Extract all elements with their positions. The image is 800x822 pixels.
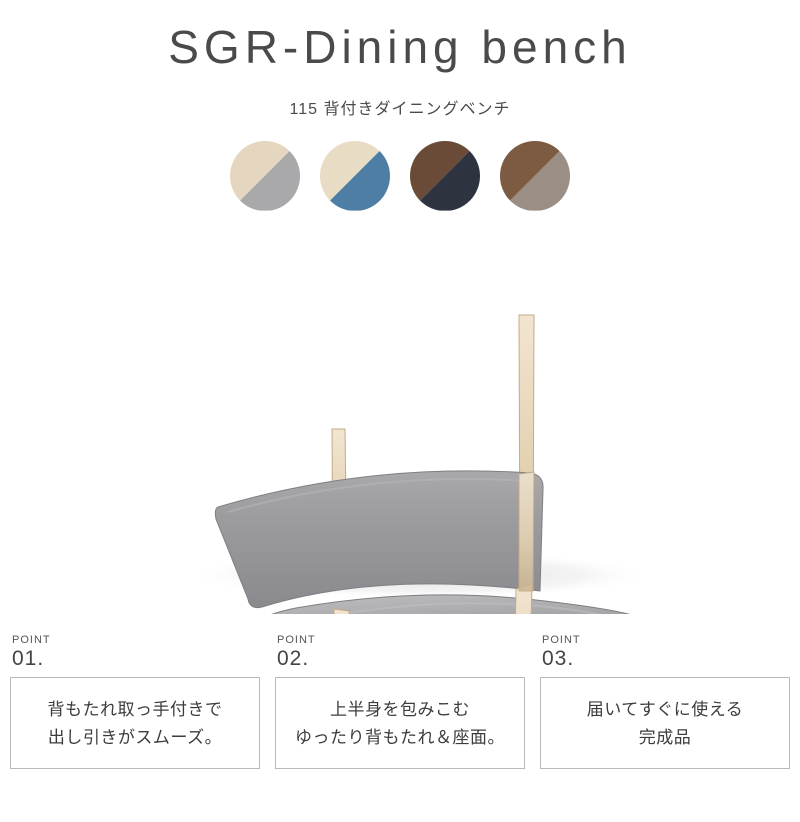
point-text-line: 背もたれ取っ手付きで [48, 699, 223, 720]
point-text-line: ゆったり背もたれ＆座面。 [295, 727, 505, 748]
point-text-line: 出し引きがスムーズ。 [48, 727, 222, 748]
color-swatch-natural-gray[interactable] [230, 141, 300, 211]
point-number: 01. [12, 647, 260, 671]
bench-illustration [0, 219, 800, 614]
point-column-03: POINT 03. 届いてすぐに使える 完成品 [540, 634, 790, 769]
point-number: 03. [542, 647, 790, 671]
point-heading-01: POINT 01. [10, 634, 260, 671]
point-label: POINT [277, 634, 525, 647]
points-section: POINT 01. 背もたれ取っ手付きで 出し引きがスムーズ。 POINT 02… [0, 634, 800, 769]
point-column-01: POINT 01. 背もたれ取っ手付きで 出し引きがスムーズ。 [10, 634, 260, 769]
point-heading-02: POINT 02. [275, 634, 525, 671]
point-label: POINT [12, 634, 260, 647]
page-subtitle: 115 背付きダイニングベンチ [0, 95, 800, 119]
color-swatch-brown-navy[interactable] [410, 141, 480, 211]
point-heading-03: POINT 03. [540, 634, 790, 671]
page-title: SGR-Dining bench [0, 22, 800, 73]
point-box-03: 届いてすぐに使える 完成品 [540, 677, 790, 769]
color-swatch-list [0, 141, 800, 211]
product-image [0, 219, 800, 614]
point-number: 02. [277, 647, 525, 671]
point-box-01: 背もたれ取っ手付きで 出し引きがスムーズ。 [10, 677, 260, 769]
color-swatch-natural-blue[interactable] [320, 141, 390, 211]
point-text-line: 届いてすぐに使える [587, 699, 743, 720]
point-box-02: 上半身を包みこむ ゆったり背もたれ＆座面。 [275, 677, 525, 769]
point-label: POINT [542, 634, 790, 647]
point-column-02: POINT 02. 上半身を包みこむ ゆったり背もたれ＆座面。 [275, 634, 525, 769]
color-swatch-brown-gray[interactable] [500, 141, 570, 211]
point-text-line: 上半身を包みこむ [330, 699, 470, 720]
point-text-line: 完成品 [639, 727, 692, 748]
